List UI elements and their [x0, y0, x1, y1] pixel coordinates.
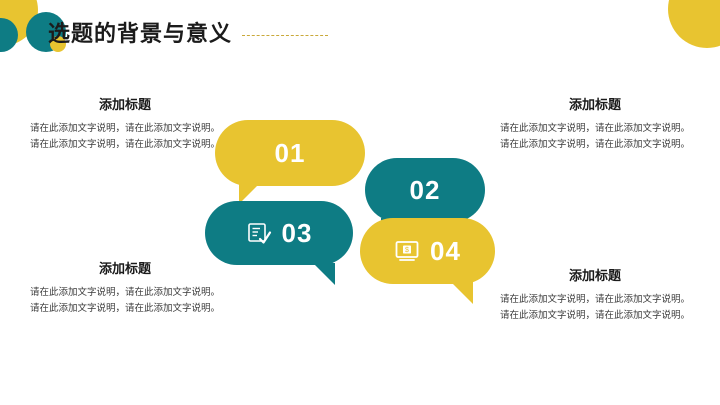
bubble-04-tail [451, 282, 473, 304]
bubble-03-tail [313, 263, 335, 285]
bubble-01-number: 01 [275, 138, 306, 169]
text-block-top-left-heading: 添加标题 [30, 94, 220, 113]
bubble-04-number: 04 [430, 236, 461, 267]
text-block-top-right: 添加标题 请在此添加文字说明，请在此添加文字说明。请在此添加文字说明，请在此添加… [500, 94, 690, 154]
text-block-bottom-right-body: 请在此添加文字说明，请在此添加文字说明。请在此添加文字说明，请在此添加文字说明。 [500, 292, 690, 325]
text-block-bottom-right: 添加标题 请在此添加文字说明，请在此添加文字说明。请在此添加文字说明，请在此添加… [500, 265, 690, 325]
title-divider [242, 35, 328, 36]
page-title: 选题的背景与意义 [48, 16, 232, 48]
text-block-bottom-left-body: 请在此添加文字说明，请在此添加文字说明。请在此添加文字说明，请在此添加文字说明。 [30, 285, 220, 318]
text-block-top-right-heading: 添加标题 [500, 94, 690, 113]
corner-decoration-top-right-yellow [668, 0, 720, 48]
text-block-bottom-right-heading: 添加标题 [500, 265, 690, 284]
text-block-top-left: 添加标题 请在此添加文字说明，请在此添加文字说明。请在此添加文字说明，请在此添加… [30, 94, 220, 154]
text-block-top-left-body: 请在此添加文字说明，请在此添加文字说明。请在此添加文字说明，请在此添加文字说明。 [30, 121, 220, 154]
text-block-top-right-body: 请在此添加文字说明，请在此添加文字说明。请在此添加文字说明，请在此添加文字说明。 [500, 121, 690, 154]
bubble-01[interactable]: 01 [215, 120, 365, 186]
text-block-bottom-left-heading: 添加标题 [30, 258, 220, 277]
money-screen-icon: $ [394, 238, 420, 264]
document-check-icon [246, 220, 272, 246]
bubble-02[interactable]: 02 [365, 158, 485, 222]
bubble-04[interactable]: $ 04 [360, 218, 495, 284]
bubble-03[interactable]: 03 [205, 201, 353, 265]
text-block-bottom-left: 添加标题 请在此添加文字说明，请在此添加文字说明。请在此添加文字说明，请在此添加… [30, 258, 220, 318]
slide-title-group: 选题的背景与意义 [26, 12, 328, 52]
bubble-02-number: 02 [410, 175, 441, 206]
svg-text:$: $ [405, 247, 409, 254]
bubble-03-number: 03 [282, 218, 313, 249]
